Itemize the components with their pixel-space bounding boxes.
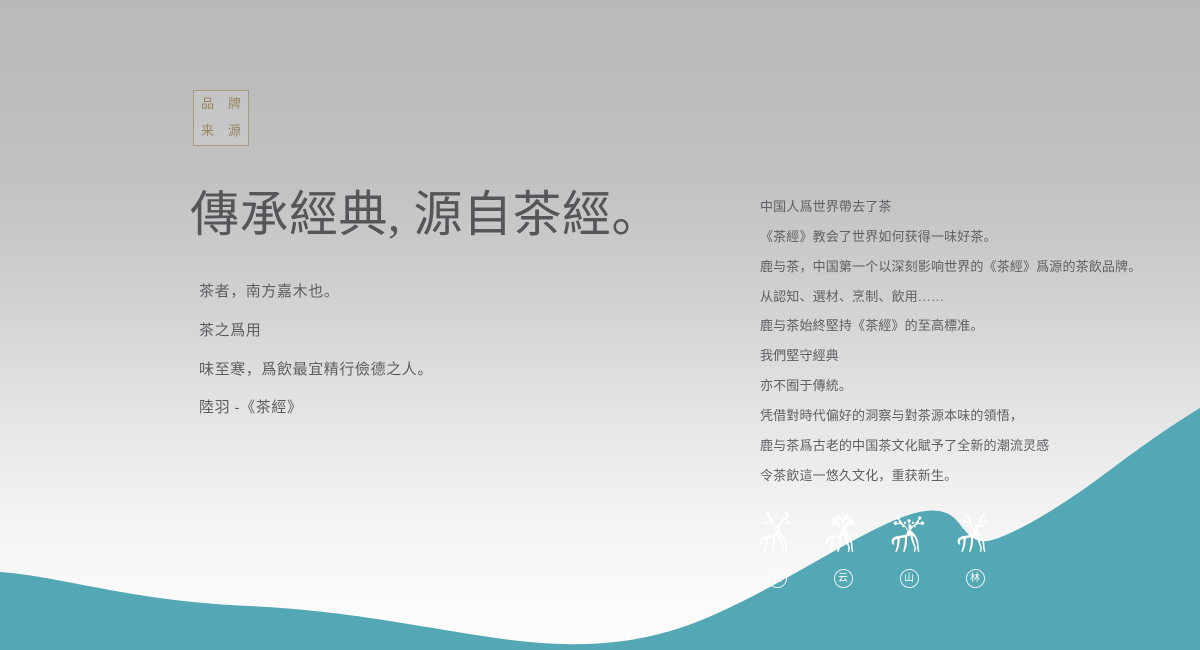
product-line-badge: 云 [834, 569, 853, 588]
logo-char-1: 品 [201, 98, 214, 111]
product-line-badge: 山 [900, 569, 919, 588]
logo-char-3: 来 [201, 125, 214, 138]
quote-line: 味至寒，爲飲最宜精行儉德之人。 [199, 361, 629, 380]
product-line-badge: 林 [966, 569, 985, 588]
quote-line: 茶之爲用 [199, 322, 629, 341]
copy-line: 鹿与茶，中国第一个以深刻影响世界的《茶經》爲源的茶飲品牌。 [760, 259, 1180, 275]
deer-blossom-icon [755, 510, 799, 560]
product-line-item-yun[interactable]: 云 [818, 510, 868, 588]
copy-line: 中国人爲世界帶去了茶 [760, 199, 1180, 215]
brand-origin-poster: 品 牌 来 源 傳承經典, 源自茶經。 茶者，南方嘉木也。 茶之爲用 味至寒，爲… [0, 0, 1200, 650]
product-line-item-shan[interactable]: 山 [884, 510, 934, 588]
copy-line: 我們堅守經典 [760, 348, 1180, 364]
copy-line: 令茶飲這一悠久文化，重获新生。 [760, 468, 1180, 484]
page-headline: 傳承經典, 源自茶經。 [190, 186, 661, 244]
deer-mountain-icon [887, 510, 931, 560]
copy-line: 鹿与茶始終堅持《茶經》的至高標准。 [760, 318, 1180, 334]
product-line-label: 林 [970, 574, 980, 584]
copy-line: 鹿与茶爲古老的中国茶文化賦予了全新的潮流灵感 [760, 438, 1180, 454]
product-line-label: 云 [838, 574, 848, 584]
deer-forest-icon [953, 510, 997, 560]
copy-line: 凭借對時代偏好的洞察与對茶源本味的領悟， [760, 408, 1180, 424]
product-line-label: 花 [772, 574, 782, 584]
product-line-item-hua[interactable]: 花 [752, 510, 802, 588]
quote-attribution: 陸羽 -《茶經》 [199, 399, 629, 418]
product-line-item-lin[interactable]: 林 [950, 510, 1000, 588]
brand-story-copy: 中国人爲世界帶去了茶 《茶經》教会了世界如何获得一味好茶。 鹿与茶，中国第一个以… [760, 199, 1180, 484]
deer-cloud-icon [821, 510, 865, 560]
copy-line: 亦不囿于傳統。 [760, 378, 1180, 394]
copy-line: 从認知、選材、烹制、飲用…… [760, 289, 1180, 305]
brand-origin-logo: 品 牌 来 源 [193, 90, 249, 146]
logo-char-2: 牌 [228, 98, 241, 111]
product-line-badge: 花 [768, 569, 787, 588]
product-line-icons: 花 [752, 510, 1000, 588]
classic-quote-block: 茶者，南方嘉木也。 茶之爲用 味至寒，爲飲最宜精行儉德之人。 陸羽 -《茶經》 [199, 283, 629, 418]
quote-line: 茶者，南方嘉木也。 [199, 283, 629, 302]
logo-char-4: 源 [228, 125, 241, 138]
product-line-label: 山 [904, 574, 914, 584]
copy-line: 《茶經》教会了世界如何获得一味好茶。 [760, 229, 1180, 245]
